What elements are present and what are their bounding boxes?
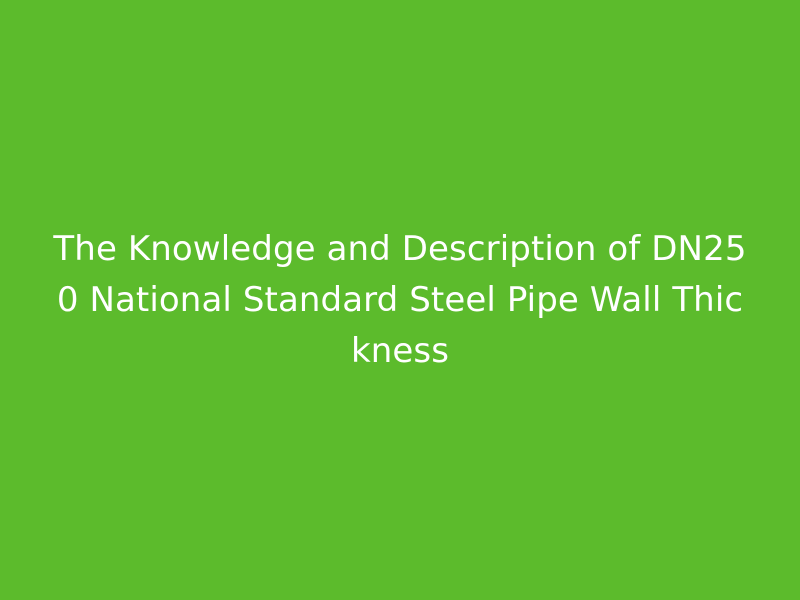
page-title: The Knowledge and Description of DN250 N… [50, 224, 750, 377]
hero-banner: The Knowledge and Description of DN250 N… [0, 0, 800, 600]
headline-container: The Knowledge and Description of DN250 N… [50, 224, 750, 377]
